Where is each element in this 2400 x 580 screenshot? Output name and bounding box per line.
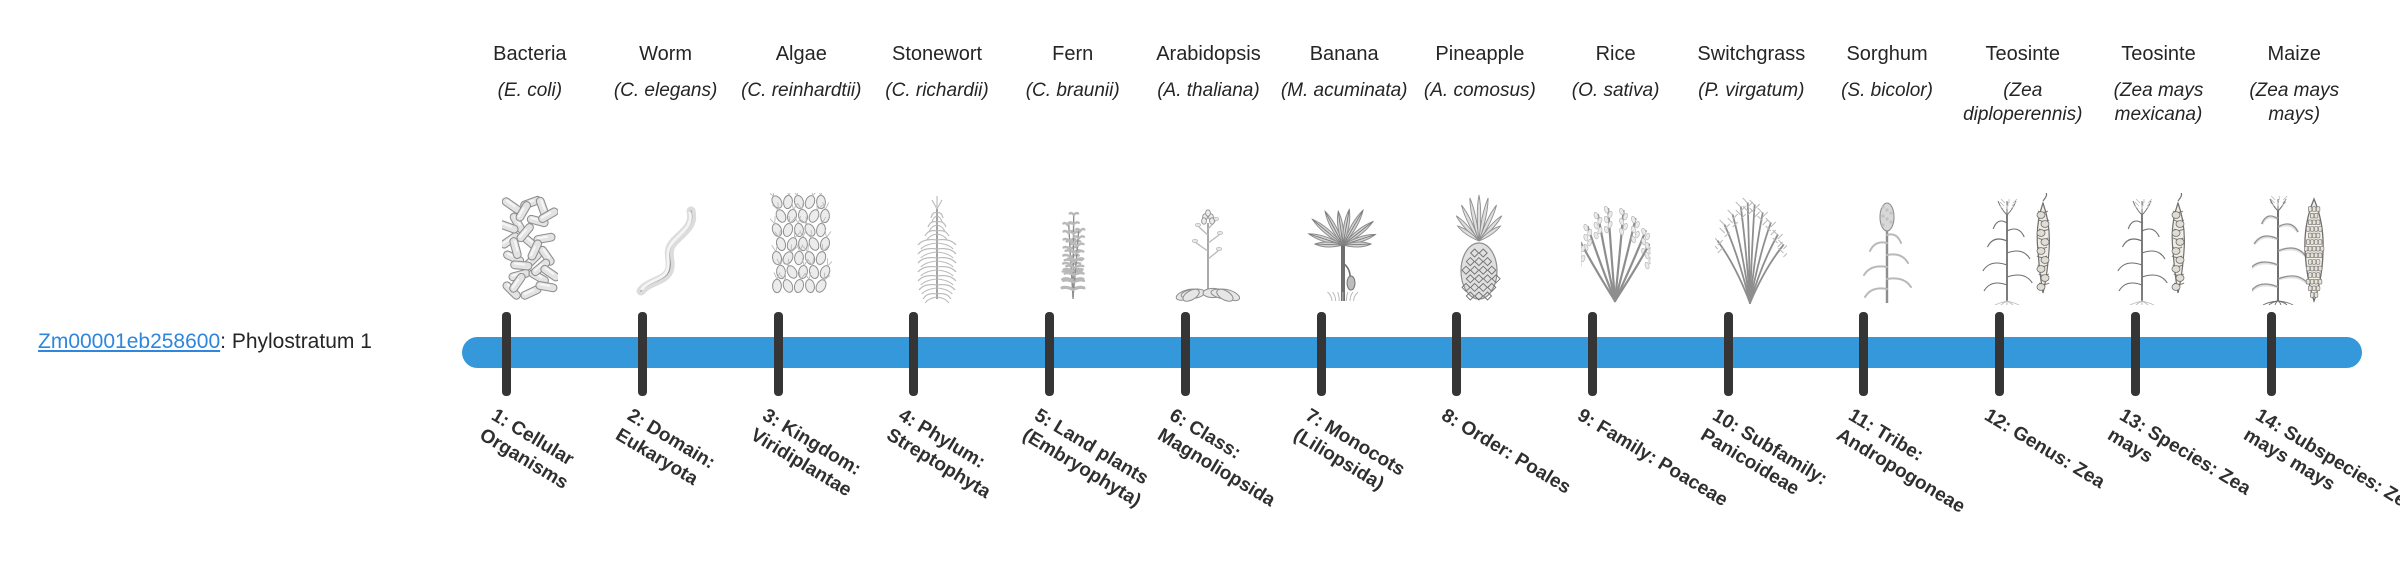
phylostratum-rank-name: Order: Poales — [1456, 416, 1574, 498]
phylostratigraphy-figure: Zm00001eb258600: Phylostratum 1 Bacteria… — [0, 0, 2400, 580]
phylostratum-rank-name: Domain: Eukaryota — [611, 416, 718, 490]
phylostratum-rank-name: Genus: Zea — [2008, 422, 2108, 493]
phylostratum-label-layer: 1: Cellular Organisms2: Domain: Eukaryot… — [0, 0, 2400, 580]
phylostratum-number: 12: — [1980, 405, 2014, 437]
phylostratum-number: 9: — [1573, 405, 1598, 432]
phylostratum-rank-name: Cellular Organisms — [476, 416, 577, 493]
